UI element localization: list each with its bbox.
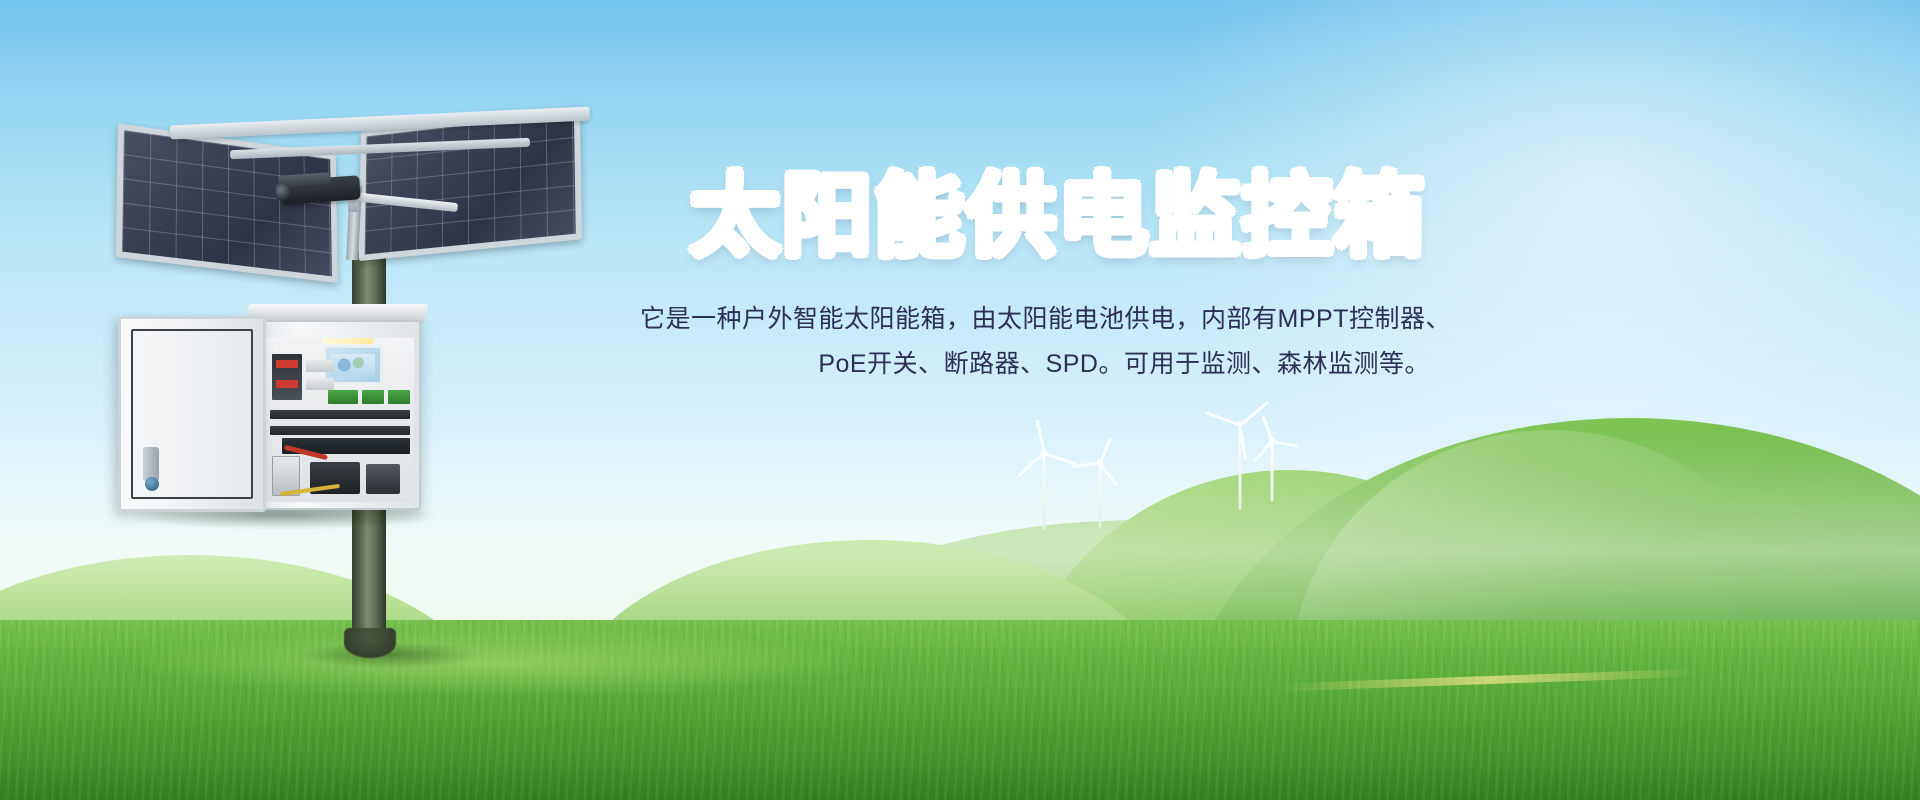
turbine-blade bbox=[1072, 462, 1100, 468]
cabinet-door-handle bbox=[143, 447, 159, 481]
product-banner: 太阳能供电监控箱 它是一种户外智能太阳能箱，由太阳能电池供电，内部有MPPT控制… bbox=[0, 0, 1920, 800]
turbine-mast bbox=[1271, 440, 1274, 502]
wind-turbine-2 bbox=[1072, 462, 1128, 528]
terminal-block-lower bbox=[306, 378, 334, 390]
solar-panel-assembly bbox=[110, 100, 590, 290]
subtitle-line-1: 它是一种户外智能太阳能箱，由太阳能电池供电，内部有MPPT控制器、 bbox=[640, 297, 1430, 342]
circuit-breaker-block bbox=[272, 354, 302, 400]
page-title: 太阳能供电监控箱 bbox=[640, 170, 1430, 265]
cabinet-interior bbox=[266, 338, 414, 502]
turbine-mast bbox=[1099, 462, 1102, 528]
wind-turbine-1 bbox=[1010, 452, 1078, 530]
battery-pack-secondary bbox=[366, 464, 400, 494]
solar-power-monitoring-cabinet bbox=[118, 310, 428, 520]
turbine-blade bbox=[1099, 462, 1118, 486]
banner-subtitle: 它是一种户外智能太阳能箱，由太阳能电池供电，内部有MPPT控制器、 PoE开关、… bbox=[640, 297, 1430, 387]
cabinet-door-open bbox=[118, 316, 266, 512]
turbine-hub bbox=[1097, 459, 1103, 465]
banner-text-block: 太阳能供电监控箱 它是一种户外智能太阳能箱，由太阳能电池供电，内部有MPPT控制… bbox=[640, 170, 1430, 387]
turbine-mast bbox=[1043, 452, 1046, 530]
terminal-block-upper bbox=[306, 360, 334, 372]
turbine-hub bbox=[1041, 449, 1047, 455]
turbine-hub bbox=[1237, 421, 1243, 427]
din-rail-upper bbox=[270, 410, 410, 419]
turbine-blade bbox=[1272, 440, 1298, 447]
grass-highlight bbox=[120, 628, 880, 698]
green-terminal-1 bbox=[328, 390, 358, 404]
wind-turbine-4 bbox=[1246, 440, 1298, 502]
solar-panel-right bbox=[359, 107, 582, 262]
interior-lamp bbox=[322, 338, 374, 344]
cabinet-door-lock bbox=[145, 477, 159, 491]
turbine-blade bbox=[1018, 452, 1045, 477]
green-terminal-3 bbox=[388, 390, 410, 404]
pole-base bbox=[344, 628, 396, 658]
green-terminal-2 bbox=[362, 390, 384, 404]
subtitle-line-2: PoE开关、断路器、SPD。可用于监测、森林监测等。 bbox=[640, 342, 1430, 387]
din-rail-lower bbox=[270, 426, 410, 435]
turbine-hub bbox=[1269, 437, 1275, 443]
security-camera-lens bbox=[275, 184, 290, 201]
